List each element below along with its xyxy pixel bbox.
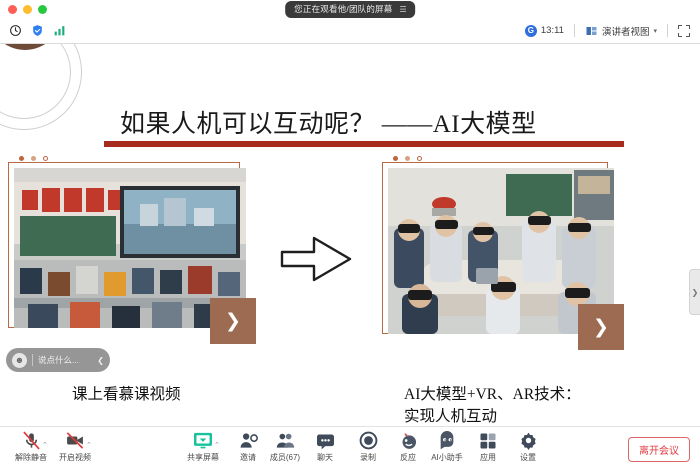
comment-input-pill[interactable]: ☻ 说点什么... ❮ [6,348,110,372]
dot-indicator [19,156,24,161]
toolbar-label: 邀请 [240,452,256,463]
meeting-topbar: G 13:11 演讲者视图 ▾ [0,18,700,44]
divider [667,24,668,37]
meeting-toolbar: 解除静音 ⌃ 开启视频 ⌃ 共享屏幕 ⌃ [0,426,700,471]
left-card-next-button[interactable]: ❯ [210,298,256,344]
toolbar-label: 开启视频 [59,452,91,463]
comment-placeholder[interactable]: 说点什么... [38,354,92,366]
toolbar-item-settings[interactable]: 设置 [505,431,551,463]
record-circle-icon [359,431,378,450]
close-window-button[interactable] [8,5,17,14]
toolbar-label: 设置 [520,452,536,463]
dot-indicator [43,156,48,161]
screen-share-tooltip: 您正在观看他/团队的屏幕 ☰ [285,1,415,18]
minimize-window-button[interactable] [23,5,32,14]
encryption-status[interactable]: G 13:11 [525,25,564,37]
side-panel-toggle[interactable]: ❯ [689,269,700,315]
left-photo-card: ❯ [14,156,252,340]
toolbar-label: 应用 [480,452,496,463]
chat-bubble-icon [316,431,335,450]
signal-bars-icon[interactable] [53,24,66,37]
chevron-right-icon: ❯ [593,316,609,339]
transition-arrow [278,232,354,291]
user-avatar-icon: ☻ [12,353,27,368]
microphone-muted-icon [22,431,41,450]
chevron-down-icon: ▾ [653,27,657,35]
gear-icon [519,431,538,450]
emoji-reaction-icon [399,431,418,450]
dot-indicator [393,156,398,161]
traffic-light-buttons [0,5,47,14]
toolbar-item-chat[interactable]: 聊天 [302,431,348,463]
card-dot-indicators [14,156,252,161]
chevron-right-icon: ❯ [225,310,241,333]
screen-share-tooltip-text: 您正在观看他/团队的屏幕 [294,3,392,15]
toolbar-label: AI小助手 [431,452,463,463]
dot-indicator [31,156,36,161]
leave-meeting-button[interactable]: 离开会议 [628,437,690,462]
shield-check-icon[interactable] [31,24,44,37]
person-add-icon [239,431,258,450]
right-card-next-button[interactable]: ❯ [578,304,624,350]
chevron-left-icon[interactable]: ❮ [97,356,104,365]
toolbar-label: 成员(67) [270,452,300,463]
fullscreen-icon[interactable] [678,25,690,37]
decorative-arcs [0,44,86,134]
ai-robot-icon [437,431,457,450]
window-titlebar: 您正在观看他/团队的屏幕 ☰ [0,0,700,18]
camera-off-icon [65,431,85,450]
title-underline [104,141,624,147]
card-dot-indicators [388,156,620,161]
layout-icon [585,25,598,37]
left-photo-frame: ❯ [14,168,252,340]
slide-title: 如果人机可以互动呢？ ——AI大模型 [120,104,537,140]
toolbar-label: 反应 [400,452,416,463]
meeting-time: 13:11 [541,25,564,36]
maximize-window-button[interactable] [38,5,47,14]
right-photo-card: ❯ [388,156,620,346]
topbar-left-icons [0,24,66,37]
right-arrow-shape [278,232,354,286]
people-icon [276,431,295,450]
grid-icon: ☰ [399,5,406,14]
right-photo-frame: ❯ [388,168,620,346]
toolbar-label: 聊天 [317,452,333,463]
toolbar-label: 解除静音 [15,452,47,463]
layout-view-label: 演讲者视图 [602,24,650,38]
apps-grid-icon [479,431,497,450]
left-card-caption: 课上看慕课视频 [72,384,181,406]
right-card-caption: AI大模型+VR、AR技术： 实现人机互动 [404,384,581,426]
toolbar-label: 录制 [360,452,376,463]
topbar-right-controls: G 13:11 演讲者视图 ▾ [525,24,700,38]
divider [574,24,575,37]
toolbar-label: 共享屏幕 [187,452,219,463]
dot-indicator [417,156,422,161]
toolbar-item-ai-assistant[interactable]: AI小助手 [424,431,470,463]
shield-lock-icon: G [525,25,537,37]
clock-icon[interactable] [9,24,22,37]
dot-indicator [405,156,410,161]
layout-view-selector[interactable]: 演讲者视图 ▾ [585,24,657,38]
share-options-caret[interactable]: ⌃ [214,441,220,449]
chevron-right-icon: ❯ [692,288,699,297]
video-options-caret[interactable]: ⌃ [86,441,92,449]
screen-share-icon [193,431,213,450]
divider [32,354,33,366]
unmute-options-caret[interactable]: ⌃ [42,441,48,449]
